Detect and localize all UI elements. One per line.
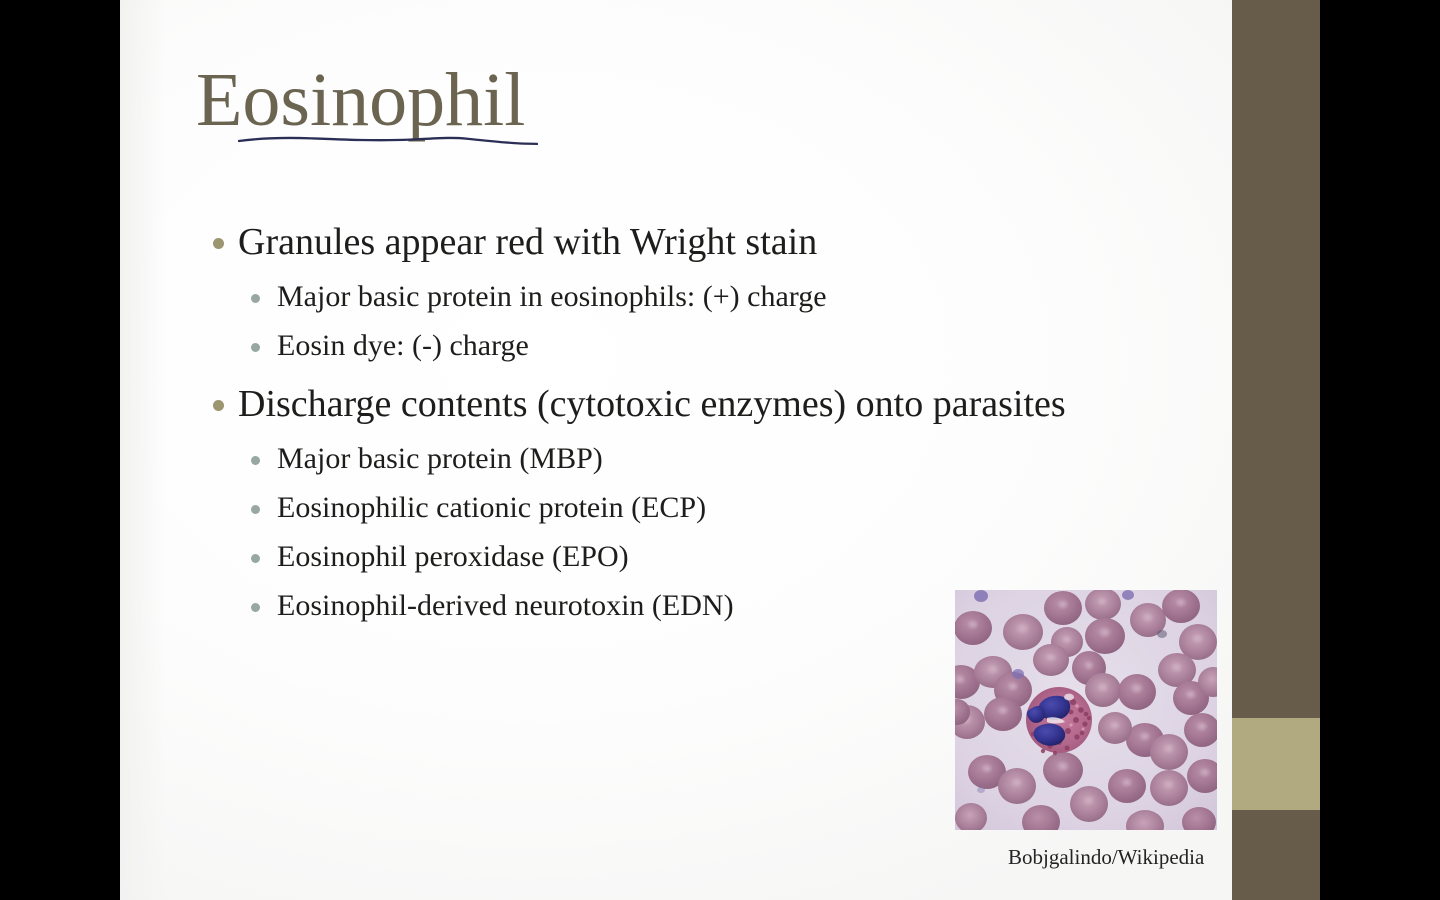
bullet-row-level2: Major basic protein (MBP): [196, 434, 1276, 483]
bullet-marker-icon: [213, 400, 224, 411]
slide-body: Granules appear red with Wright stain Ma…: [196, 212, 1276, 630]
bullet-text: Major basic protein in eosinophils: (+) …: [277, 272, 1276, 321]
bullet-text: Eosinophil peroxidase (EPO): [277, 532, 1276, 581]
slide-title: Eosinophil: [196, 62, 525, 138]
bullet-row-level2: Eosinophilic cationic protein (ECP): [196, 483, 1276, 532]
bullet-row-level2: Eosin dye: (-) charge: [196, 321, 1276, 370]
figure-caption: Bobjgalindo/Wikipedia: [1008, 845, 1204, 870]
bullet-marker-icon: [251, 294, 260, 303]
bullet-marker-icon: [251, 603, 260, 612]
bullet-row-level2: Major basic protein in eosinophils: (+) …: [196, 272, 1276, 321]
blood-smear-figure: [955, 590, 1217, 830]
bullet-marker-icon: [251, 554, 260, 563]
bullet-marker-icon: [213, 238, 224, 249]
bullet-marker-icon: [251, 456, 260, 465]
bullet-text: Discharge contents (cytotoxic enzymes) o…: [238, 374, 1276, 434]
blood-smear-micrograph: [955, 590, 1217, 830]
bullet-text: Eosin dye: (-) charge: [277, 321, 1276, 370]
letterbox-left: [0, 0, 120, 900]
bullet-text: Granules appear red with Wright stain: [238, 212, 1276, 272]
slide-accent-block: [1232, 718, 1320, 810]
bullet-row-level1: Granules appear red with Wright stain: [196, 212, 1276, 272]
bullet-marker-icon: [251, 505, 260, 514]
bullet-text: Major basic protein (MBP): [277, 434, 1276, 483]
bullet-row-level2: Eosinophil peroxidase (EPO): [196, 532, 1276, 581]
letterbox-right: [1320, 0, 1440, 900]
bullet-marker-icon: [251, 343, 260, 352]
presentation-viewport: Eosinophil Granules appear red with Wrig…: [0, 0, 1440, 900]
bullet-text: Eosinophilic cationic protein (ECP): [277, 483, 1276, 532]
title-underline-decoration: [238, 134, 524, 146]
bullet-row-level1: Discharge contents (cytotoxic enzymes) o…: [196, 374, 1276, 434]
slide-canvas: Eosinophil Granules appear red with Wrig…: [120, 0, 1320, 900]
